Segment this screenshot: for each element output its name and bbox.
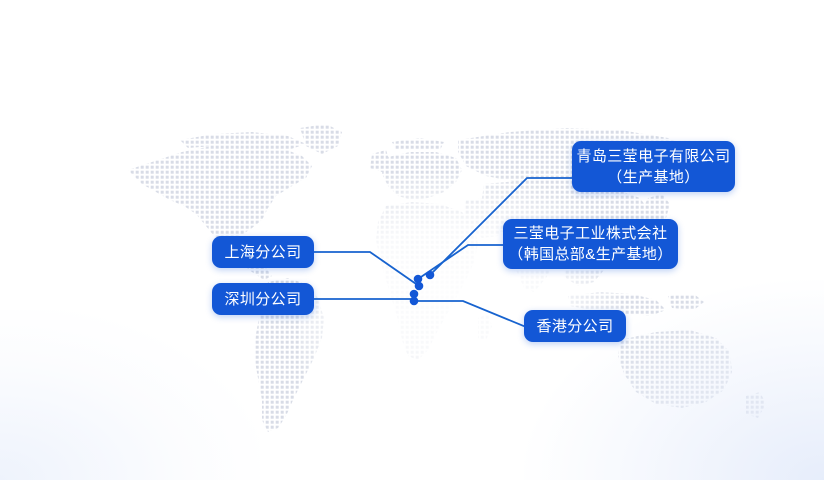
- world-map-infographic: 青岛三莹电子有限公司 （生产基地） 三莹电子工业株式会社 （韩国总部&生产基地）…: [0, 0, 824, 480]
- label-shanghai-branch[interactable]: 上海分公司: [212, 236, 314, 268]
- label-qingdao-line1: 青岛三莹电子有限公司: [576, 146, 730, 167]
- label-shenzhen-branch[interactable]: 深圳分公司: [212, 283, 314, 315]
- continents-dotted: [0, 0, 824, 480]
- label-hongkong-line1: 香港分公司: [536, 316, 613, 337]
- world-map-layer: [0, 0, 824, 480]
- label-korea-headquarters[interactable]: 三莹电子工业株式会社 （韩国总部&生产基地）: [503, 219, 678, 269]
- label-shenzhen-line1: 深圳分公司: [224, 289, 301, 310]
- label-korea-line1: 三莹电子工业株式会社: [513, 223, 667, 244]
- label-qingdao-factory[interactable]: 青岛三莹电子有限公司 （生产基地）: [572, 141, 735, 192]
- world-map-dots: [0, 0, 824, 480]
- label-korea-line2: （韩国总部&生产基地）: [508, 244, 672, 265]
- label-shanghai-line1: 上海分公司: [224, 242, 301, 263]
- label-hongkong-branch[interactable]: 香港分公司: [524, 310, 626, 342]
- label-qingdao-line2: （生产基地）: [607, 167, 699, 188]
